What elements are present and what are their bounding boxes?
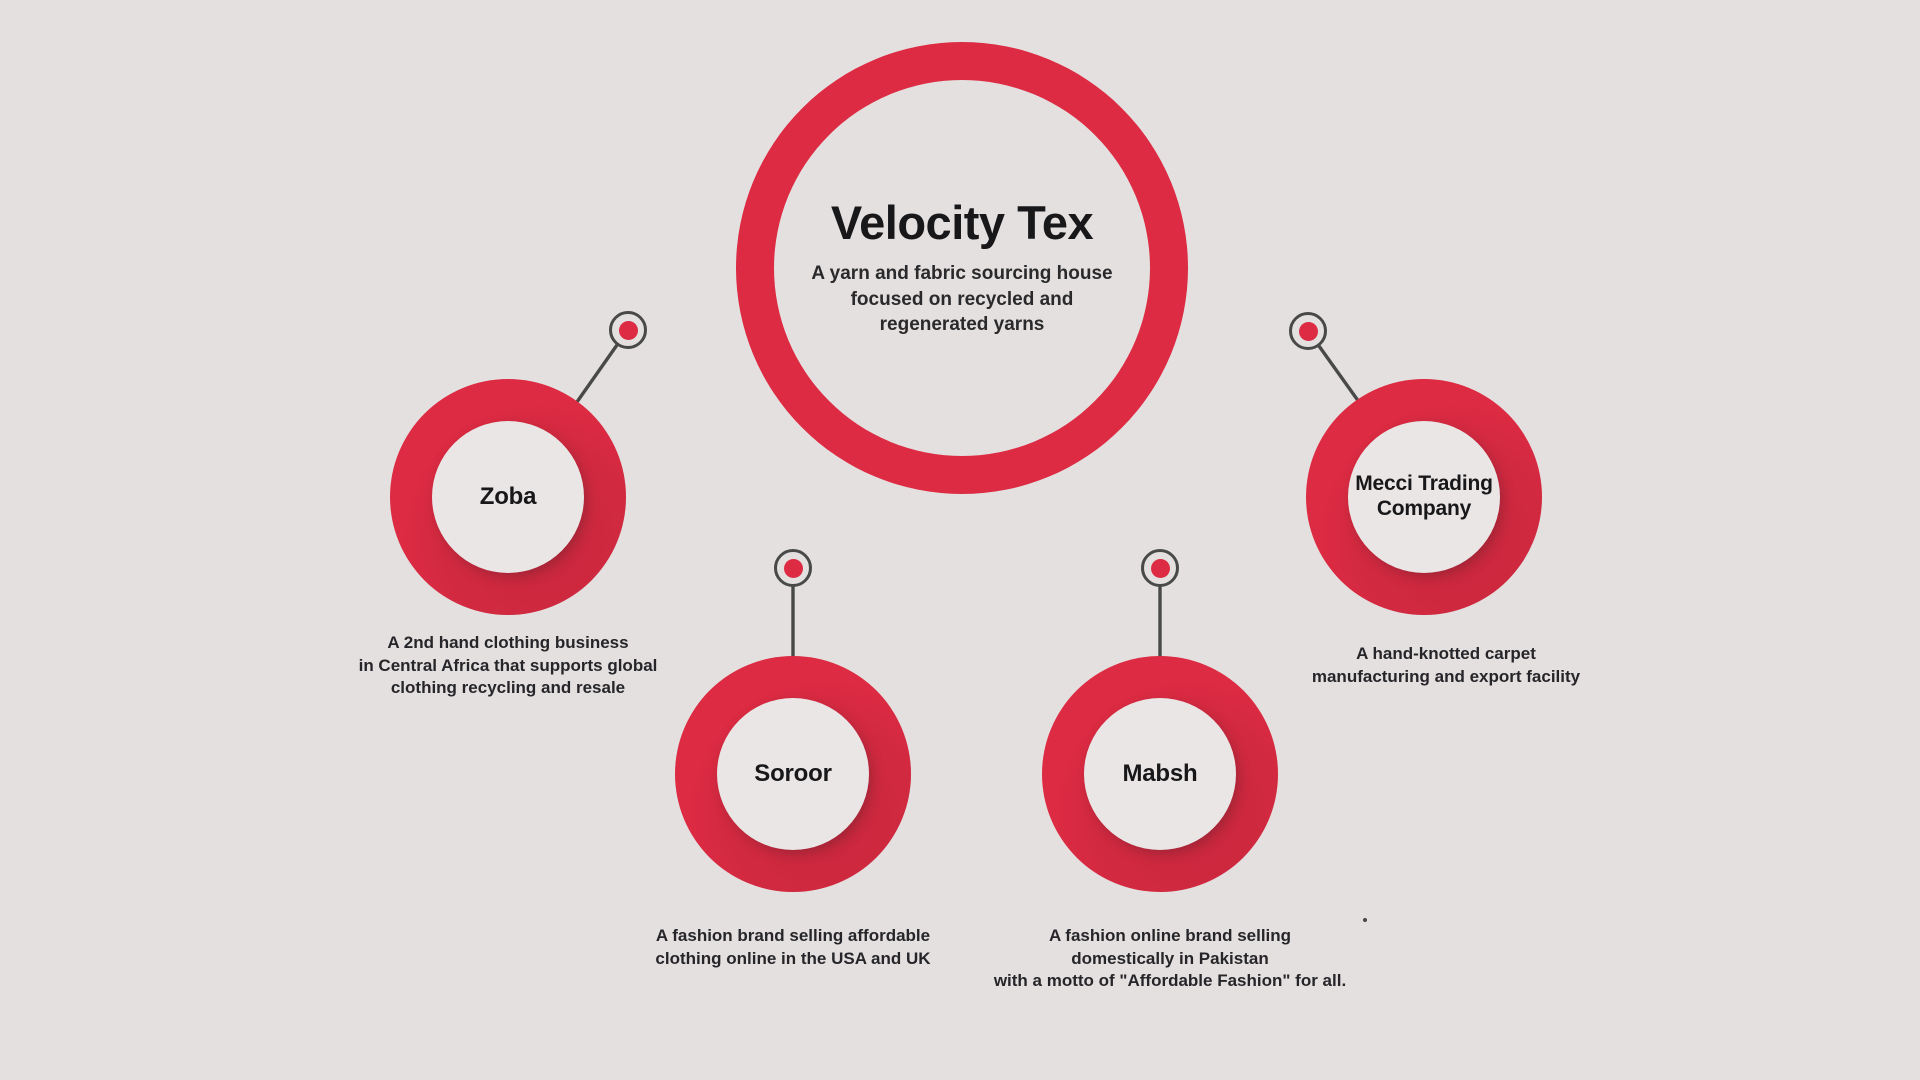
pin-icon-mecci[interactable] <box>1289 312 1327 350</box>
node-mecci-label: Mecci Trading Company <box>1355 472 1492 522</box>
pin-icon-soroor[interactable] <box>774 549 812 587</box>
node-mecci-trading-company[interactable]: Mecci Trading Company <box>1306 379 1542 615</box>
diagram-canvas: Velocity Tex A yarn and fabric sourcing … <box>0 0 1920 1080</box>
pin-dot-icon <box>1151 559 1170 578</box>
caption-mabsh: A fashion online brand selling domestica… <box>955 925 1385 993</box>
pin-dot-icon <box>784 559 803 578</box>
node-zoba[interactable]: Zoba <box>390 379 626 615</box>
caption-soroor: A fashion brand selling affordable cloth… <box>593 925 993 970</box>
node-mabsh[interactable]: Mabsh <box>1042 656 1278 892</box>
node-soroor[interactable]: Soroor <box>675 656 911 892</box>
stray-dot-artifact <box>1363 918 1367 922</box>
pin-dot-icon <box>1299 322 1318 341</box>
node-mecci-core: Mecci Trading Company <box>1348 421 1500 573</box>
node-mabsh-core: Mabsh <box>1084 698 1236 850</box>
pin-icon-zoba[interactable] <box>609 311 647 349</box>
caption-mecci: A hand-knotted carpet manufacturing and … <box>1246 643 1646 688</box>
node-mabsh-label: Mabsh <box>1122 760 1197 788</box>
node-zoba-label: Zoba <box>480 483 537 511</box>
node-soroor-core: Soroor <box>717 698 869 850</box>
node-zoba-core: Zoba <box>432 421 584 573</box>
pin-dot-icon <box>619 321 638 340</box>
center-subtitle: A yarn and fabric sourcing house focused… <box>807 261 1117 337</box>
page-title: Velocity Tex <box>831 198 1093 247</box>
node-soroor-label: Soroor <box>754 760 831 788</box>
pin-icon-mabsh[interactable] <box>1141 549 1179 587</box>
node-velocity-tex-core: Velocity Tex A yarn and fabric sourcing … <box>774 80 1150 456</box>
node-velocity-tex[interactable]: Velocity Tex A yarn and fabric sourcing … <box>736 42 1188 494</box>
caption-zoba: A 2nd hand clothing business in Central … <box>308 632 708 700</box>
